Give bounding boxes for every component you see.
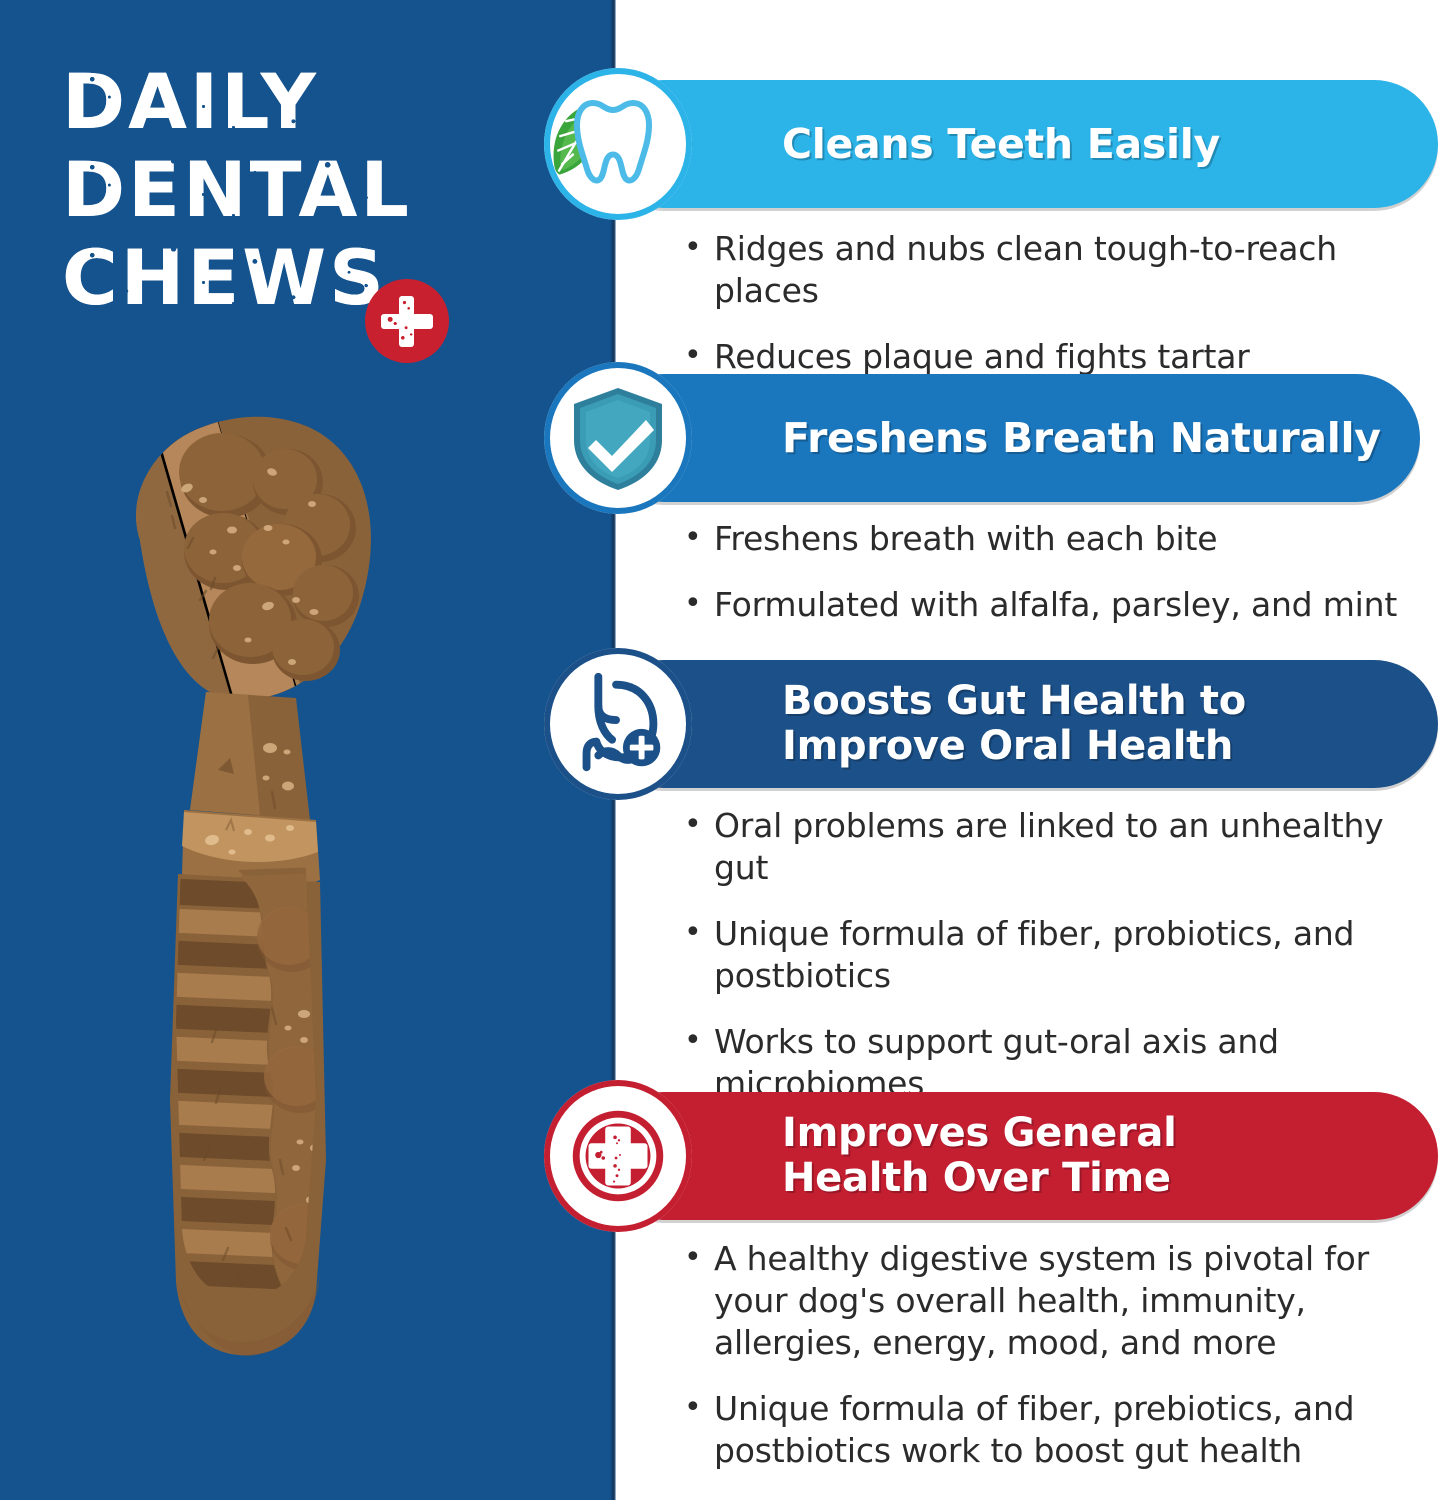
title-line-dental: DENTAL: [62, 146, 482, 234]
list-item: Reduces plaque and fights tartar: [684, 336, 1444, 378]
list-item: Formulated with alfalfa, parsley, and mi…: [684, 584, 1444, 626]
list-item: Unique formula of fiber, probiotics, and…: [684, 913, 1432, 997]
title-line-daily: DAILY: [62, 58, 482, 146]
list-item: A healthy digestive system is pivotal fo…: [684, 1238, 1384, 1364]
feature-band-3: Boosts Gut Health to Improve Oral Health: [600, 660, 1438, 788]
feature-title-2: Freshens Breath Naturally: [600, 415, 1407, 461]
medical-cross-circle-icon: [544, 1080, 692, 1232]
feature-title-4-line1: Improves General: [782, 1111, 1177, 1156]
feature-bullets-2: Freshens breath with each bite Formulate…: [684, 518, 1444, 650]
dog-dental-chew-bone-illustration: [120, 400, 490, 1400]
shield-check-icon: [544, 362, 692, 514]
feature-bullets-4: A healthy digestive system is pivotal fo…: [684, 1238, 1384, 1496]
feature-title-4-line2: Health Over Time: [782, 1156, 1177, 1201]
feature-band-2: Freshens Breath Naturally: [600, 374, 1420, 502]
list-item: Oral problems are linked to an unhealthy…: [684, 805, 1432, 889]
list-item: Freshens breath with each bite: [684, 518, 1444, 560]
feature-title-3-line2: Improve Oral Health: [782, 724, 1246, 769]
medical-cross-icon: [365, 279, 449, 363]
cross-grunge-texture: [365, 279, 449, 363]
list-item: Ridges and nubs clean tough-to-reach pla…: [684, 228, 1444, 312]
feature-title-1: Cleans Teeth Easily: [600, 121, 1246, 167]
feature-title-3-line1: Boosts Gut Health to: [782, 679, 1246, 724]
feature-bullets-3: Oral problems are linked to an unhealthy…: [684, 805, 1432, 1129]
list-item: Unique formula of fiber, prebiotics, and…: [684, 1388, 1384, 1472]
feature-title-3: Boosts Gut Health to Improve Oral Health: [600, 679, 1272, 769]
feature-band-1: Cleans Teeth Easily: [600, 80, 1438, 208]
tooth-with-mint-leaf-icon: [544, 68, 692, 220]
stomach-gut-plus-icon: [544, 648, 692, 800]
feature-band-4: Improves General Health Over Time: [600, 1092, 1438, 1220]
